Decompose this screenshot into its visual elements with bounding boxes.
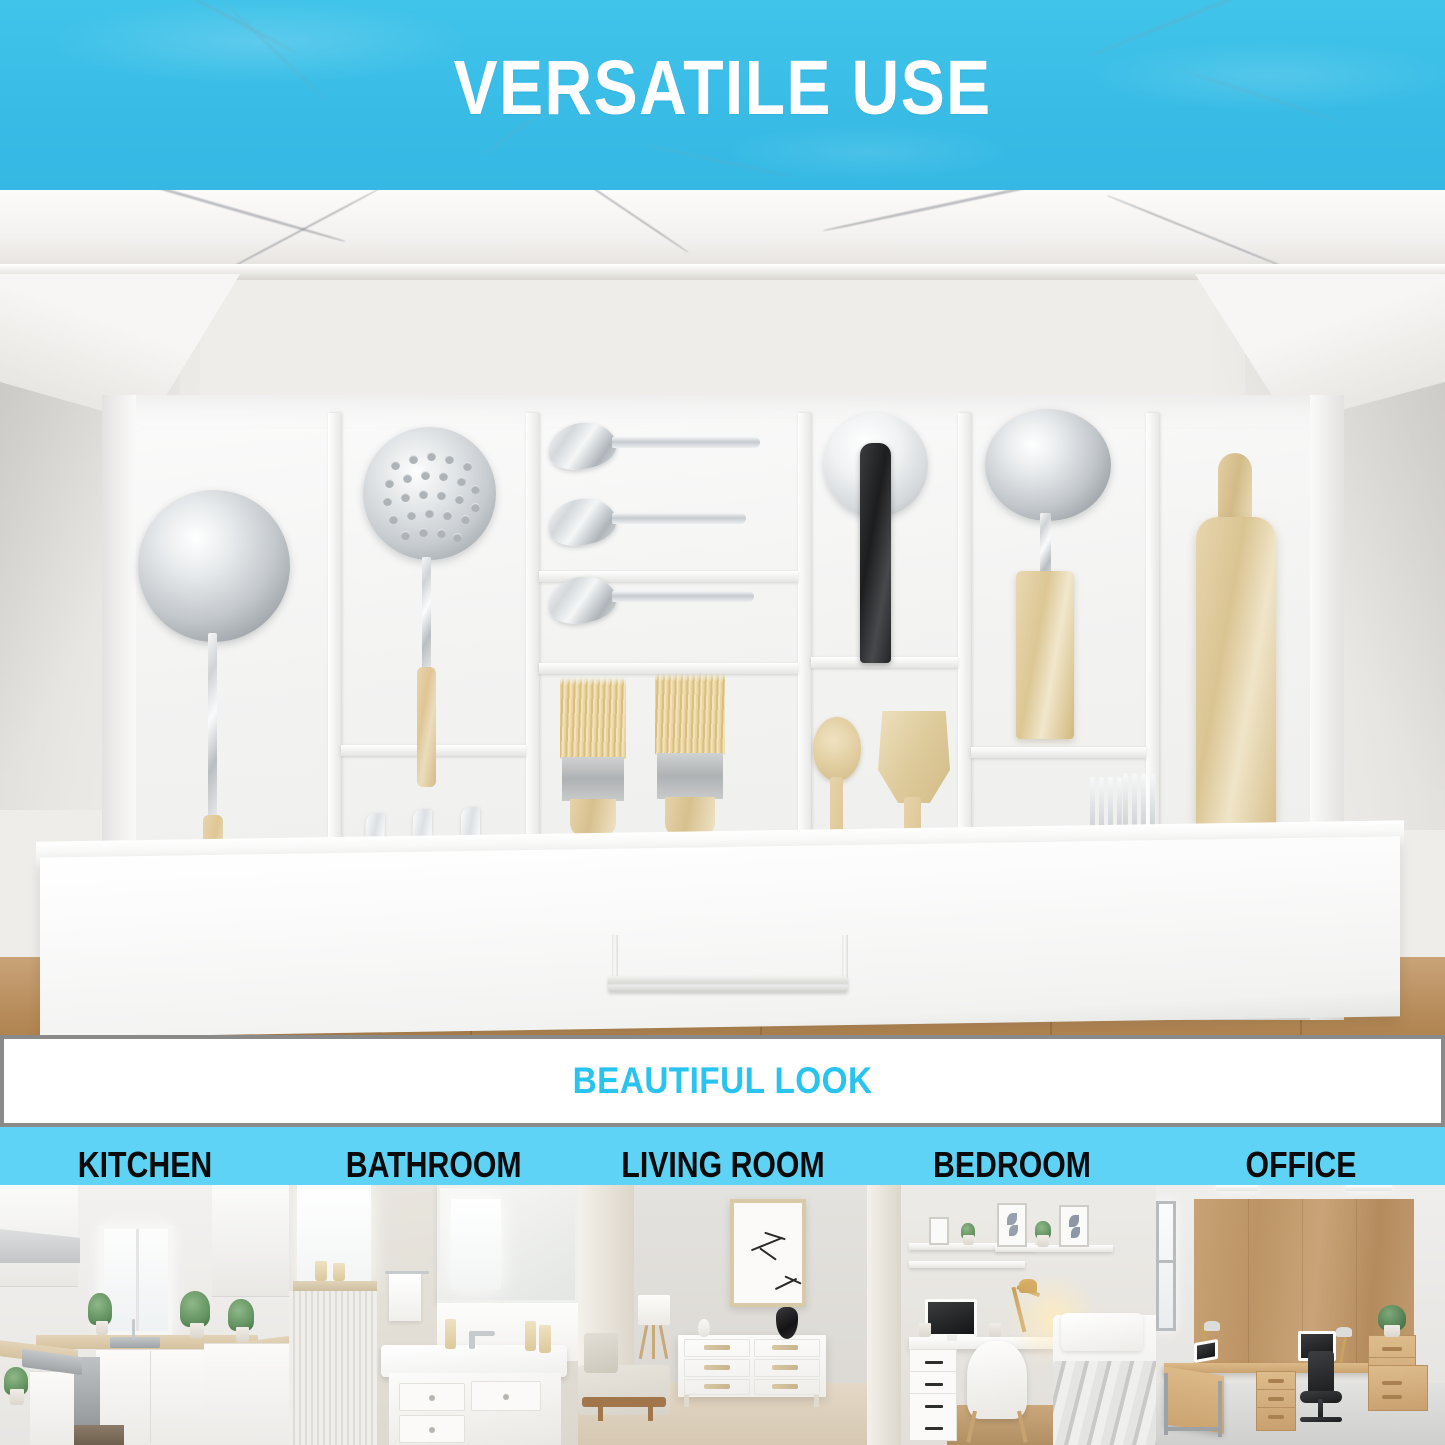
beautiful-look-band: BEAUTIFUL LOOK — [0, 1035, 1445, 1127]
beautiful-look-label: BEAUTIFUL LOOK — [573, 1060, 873, 1102]
marble-countertop — [0, 190, 1445, 268]
room-label-kitchen: KITCHEN — [0, 1127, 289, 1185]
room-label-text: BATHROOM — [346, 1147, 522, 1183]
room-thumbnail-strip — [0, 1185, 1445, 1445]
thumbnail-living-room — [578, 1185, 867, 1445]
thumbnail-office — [1156, 1185, 1445, 1445]
room-label-bathroom: BATHROOM — [289, 1127, 578, 1185]
product-listing-image: VERSATILE USE — [0, 0, 1445, 1445]
room-label-text: OFFICE — [1245, 1147, 1356, 1183]
room-label-bar: KITCHEN BATHROOM LIVING ROOM BEDROOM OFF… — [0, 1127, 1445, 1185]
thumbnail-bedroom — [867, 1185, 1156, 1445]
thumbnail-kitchen — [0, 1185, 289, 1445]
drawer-front-panel[interactable] — [40, 836, 1400, 1035]
thumbnail-bathroom — [289, 1185, 578, 1445]
room-label-living-room: LIVING ROOM — [578, 1127, 867, 1185]
pepper-mill — [1016, 571, 1074, 739]
room-label-office: OFFICE — [1156, 1127, 1445, 1185]
room-label-text: BEDROOM — [933, 1147, 1091, 1183]
header-banner: VERSATILE USE — [0, 0, 1445, 190]
room-label-text: KITCHEN — [77, 1147, 211, 1183]
hero-image — [0, 190, 1445, 1035]
drawer-pull-handle[interactable] — [608, 976, 848, 992]
room-label-text: LIVING ROOM — [621, 1147, 824, 1183]
room-label-bedroom: BEDROOM — [867, 1127, 1156, 1185]
banner-title: VERSATILE USE — [101, 50, 1344, 127]
